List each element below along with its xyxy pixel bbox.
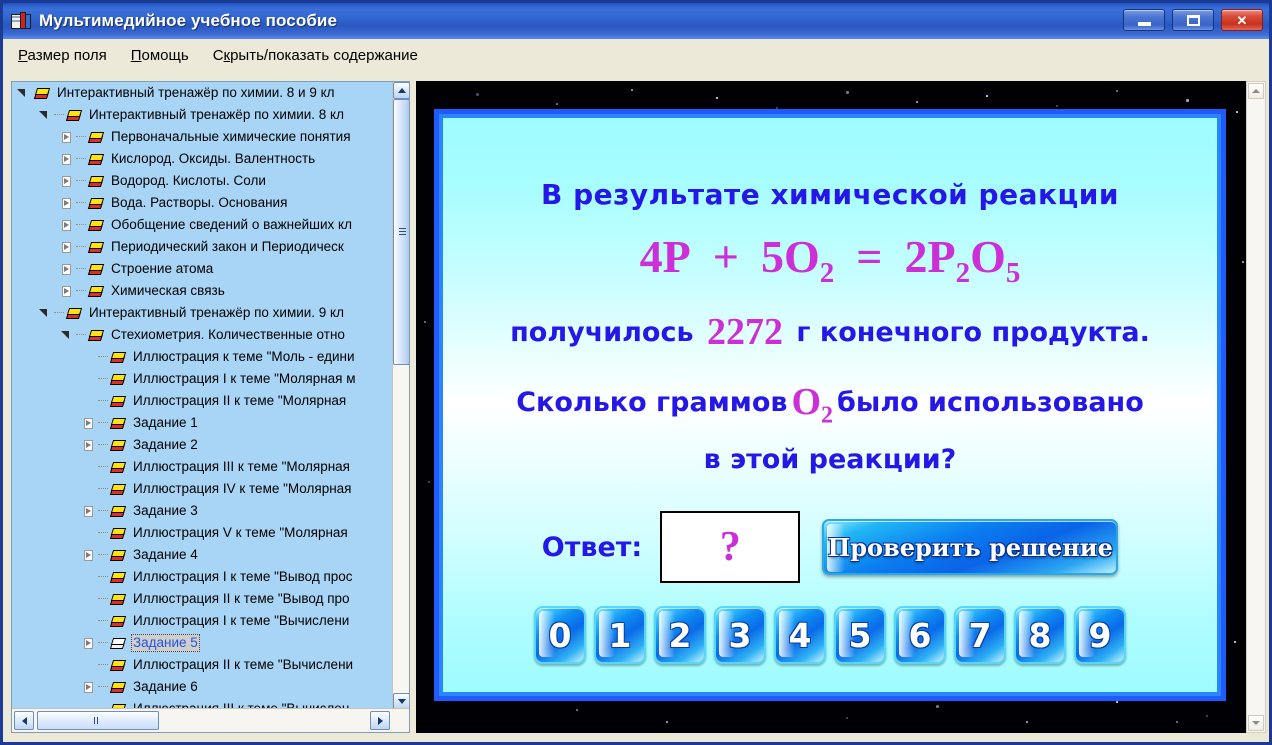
tree-connector bbox=[98, 554, 108, 556]
tree-connector bbox=[98, 444, 108, 446]
tree-scroll-thumb[interactable] bbox=[393, 99, 410, 365]
arrow-down-icon bbox=[398, 699, 406, 704]
book-icon bbox=[110, 395, 126, 408]
expander-none bbox=[82, 527, 95, 540]
book-icon bbox=[110, 351, 126, 364]
minimize-icon bbox=[1138, 22, 1151, 26]
check-solution-label: Проверить решение bbox=[828, 533, 1113, 562]
eq-term-2: 5O bbox=[761, 231, 820, 282]
expander-none bbox=[82, 395, 95, 408]
star-dot bbox=[916, 101, 918, 103]
expander-collapsed-icon[interactable] bbox=[60, 263, 73, 276]
digit-button-5[interactable]: 5 bbox=[834, 606, 886, 664]
tree-item[interactable]: Задание 3 bbox=[12, 500, 394, 522]
arrow-left-icon bbox=[22, 717, 27, 725]
eq-term-3-sub1: 2 bbox=[956, 257, 971, 289]
tree-item-label: Иллюстрация к теме "Моль - едини bbox=[131, 348, 357, 366]
tree-item[interactable]: Водород. Кислоты. Соли bbox=[12, 170, 394, 192]
tree-item-label: Задание 1 bbox=[131, 414, 200, 432]
tree-item-label: Иллюстрация I к теме "Вывод прос bbox=[131, 568, 355, 586]
tree-item[interactable]: Иллюстрация II к теме "Вывод про bbox=[12, 588, 394, 610]
star-dot bbox=[1186, 99, 1189, 102]
line3-before: Сколько граммов bbox=[516, 387, 787, 418]
menu-accel-0: Р bbox=[18, 47, 28, 64]
eq-operator-2: = bbox=[856, 231, 882, 282]
eq-operator-1: + bbox=[713, 231, 739, 282]
book-icon bbox=[88, 263, 104, 276]
menu-accel-1: П bbox=[131, 47, 142, 64]
tree-item[interactable]: Задание 6 bbox=[12, 676, 394, 698]
star-dot bbox=[666, 721, 668, 723]
book-icon bbox=[88, 153, 104, 166]
tree-item-label: Задание 4 bbox=[131, 546, 200, 564]
tree-connector bbox=[98, 466, 108, 468]
expander-collapsed-icon[interactable] bbox=[82, 439, 95, 452]
digit-label: 1 bbox=[609, 616, 632, 655]
tree-item[interactable]: Иллюстрация IV к теме "Молярная bbox=[12, 478, 394, 500]
book-icon bbox=[110, 615, 126, 628]
tree-connector bbox=[76, 268, 86, 270]
book-icon bbox=[110, 461, 126, 474]
maximize-icon bbox=[1187, 15, 1200, 26]
menu-item-field-size[interactable]: Размер поля bbox=[9, 44, 116, 67]
expander-none bbox=[82, 483, 95, 496]
digit-button-1[interactable]: 1 bbox=[594, 606, 646, 664]
tree-item[interactable]: Вода. Растворы. Основания bbox=[12, 192, 394, 214]
tree-item-label: Первоначальные химические понятия bbox=[109, 128, 353, 146]
tree-item[interactable]: Задание 4 bbox=[12, 544, 394, 566]
tree-connector bbox=[98, 510, 108, 512]
book-icon bbox=[110, 593, 126, 606]
oxygen-subscript: 2 bbox=[821, 403, 833, 429]
expander-none bbox=[82, 593, 95, 606]
slide-frame: В результате химической реакции 4P+5O2=2… bbox=[434, 109, 1226, 701]
digit-button-4[interactable]: 4 bbox=[774, 606, 826, 664]
page-vertical-scrollbar[interactable] bbox=[1246, 81, 1266, 733]
close-icon: ✕ bbox=[1237, 14, 1248, 27]
eq-term-3a: 2P bbox=[904, 231, 955, 282]
expander-expanded-icon[interactable] bbox=[38, 109, 51, 122]
tree-item[interactable]: Строение атома bbox=[12, 258, 394, 280]
digit-label: 4 bbox=[789, 616, 812, 655]
tree-item-label: Интерактивный тренажёр по химии. 8 кл bbox=[87, 106, 346, 124]
expander-expanded-icon[interactable] bbox=[60, 329, 73, 342]
menu-bar: Размер поля Помощь Скрыть/показать содер… bbox=[3, 39, 1269, 72]
tree-item-label: Обобщение сведений о важнейших кл bbox=[109, 216, 354, 234]
star-dot bbox=[846, 717, 848, 719]
tree-connector bbox=[98, 620, 108, 622]
eq-term-1: 4P bbox=[640, 231, 691, 282]
tree-item-label: Иллюстрация V к теме "Молярная bbox=[131, 524, 350, 542]
tree-scroll-right-button[interactable] bbox=[370, 711, 390, 730]
tree-item[interactable]: Химическая связь bbox=[12, 280, 394, 302]
tree-connector bbox=[76, 158, 86, 160]
tree-item-label: Задание 2 bbox=[131, 436, 200, 454]
book-icon bbox=[88, 219, 104, 232]
digit-label: 2 bbox=[669, 616, 692, 655]
book-icon bbox=[88, 329, 104, 342]
tree-item-label: Стехиометрия. Количественные отно bbox=[109, 326, 347, 344]
tree-item[interactable]: Иллюстрация III к теме "Молярная bbox=[12, 456, 394, 478]
book-icon bbox=[110, 571, 126, 584]
tree-item[interactable]: Интерактивный тренажёр по химии. 8 кл bbox=[12, 104, 394, 126]
digit-button-9[interactable]: 9 bbox=[1074, 606, 1126, 664]
contents-tree-panel: Интерактивный тренажёр по химии. 8 и 9 к… bbox=[11, 81, 410, 733]
book-icon bbox=[110, 417, 126, 430]
tree-item-label: Водород. Кислоты. Соли bbox=[109, 172, 268, 190]
menu-pre-2: С bbox=[213, 47, 224, 64]
tree-hscroll-thumb[interactable] bbox=[37, 711, 159, 730]
star-dot bbox=[631, 89, 633, 91]
tree-connector bbox=[98, 664, 108, 666]
digit-button-0[interactable]: 0 bbox=[534, 606, 586, 664]
book-icon bbox=[88, 197, 104, 210]
tree-item[interactable]: Задание 2 bbox=[12, 434, 394, 456]
question-line-3: Сколько граммовO2было использовано bbox=[443, 380, 1217, 430]
menu-post-1: омощь bbox=[142, 47, 189, 64]
digit-label: 3 bbox=[729, 616, 752, 655]
scroll-grip-icon bbox=[399, 228, 406, 236]
eq-term-3b: O bbox=[970, 231, 1006, 282]
chemical-equation: 4P+5O2=2P2O5 bbox=[443, 230, 1217, 290]
arrow-up-icon bbox=[398, 88, 406, 93]
star-dot bbox=[428, 481, 430, 483]
question-line-2: получилось 2272 г конечного продукта. bbox=[443, 310, 1217, 354]
book-icon bbox=[110, 483, 126, 496]
mass-value: 2272 bbox=[703, 311, 787, 353]
menu-item-toggle-contents[interactable]: Скрыть/показать содержание bbox=[204, 44, 427, 67]
tree-item[interactable]: Иллюстрация II к теме "Молярная bbox=[12, 390, 394, 412]
expander-collapsed-icon[interactable] bbox=[82, 637, 95, 650]
tree-connector bbox=[98, 686, 108, 688]
tree-vertical-scrollbar[interactable] bbox=[392, 82, 409, 710]
star-dot bbox=[1242, 261, 1244, 263]
tree-connector bbox=[98, 422, 108, 424]
expander-collapsed-icon[interactable] bbox=[60, 219, 73, 232]
expander-collapsed-icon[interactable] bbox=[82, 417, 95, 430]
book-icon bbox=[110, 681, 126, 694]
tree-connector bbox=[76, 224, 86, 226]
expander-collapsed-icon[interactable] bbox=[82, 549, 95, 562]
tree-connector bbox=[76, 136, 86, 138]
window-title: Мультимедийное учебное пособие bbox=[39, 11, 337, 31]
tree-connector bbox=[76, 290, 86, 292]
minimize-button[interactable] bbox=[1123, 9, 1165, 31]
tree-connector bbox=[76, 180, 86, 182]
tree-item-label: Иллюстрация II к теме "Вывод про bbox=[131, 590, 352, 608]
star-dot bbox=[1206, 715, 1208, 717]
tree-connector bbox=[98, 400, 108, 402]
star-dot bbox=[1176, 721, 1178, 723]
tree-item[interactable]: Задание 1 bbox=[12, 412, 394, 434]
tree-item-label: Химическая связь bbox=[109, 282, 227, 300]
digit-button-6[interactable]: 6 bbox=[894, 606, 946, 664]
line2-before: получилось bbox=[510, 317, 693, 348]
close-button[interactable]: ✕ bbox=[1221, 9, 1263, 31]
tree-connector bbox=[54, 114, 64, 116]
answer-label: Ответ: bbox=[542, 532, 642, 563]
star-dot bbox=[576, 709, 578, 711]
tree-connector bbox=[98, 488, 108, 490]
digit-label: 7 bbox=[969, 616, 992, 655]
star-dot bbox=[1234, 641, 1236, 643]
digit-button-2[interactable]: 2 bbox=[654, 606, 706, 664]
digit-label: 5 bbox=[849, 616, 872, 655]
answer-row: Ответ: ? Проверить решение bbox=[443, 510, 1217, 584]
tree-item[interactable]: Интерактивный тренажёр по химии. 9 кл bbox=[12, 302, 394, 324]
star-dot bbox=[1236, 111, 1238, 113]
expander-collapsed-icon[interactable] bbox=[60, 153, 73, 166]
maximize-button[interactable] bbox=[1172, 9, 1214, 31]
question-line-4: в этой реакции? bbox=[443, 444, 1217, 475]
book-icon bbox=[88, 175, 104, 188]
tree-item[interactable]: Кислород. Оксиды. Валентность bbox=[12, 148, 394, 170]
expander-collapsed-icon[interactable] bbox=[60, 241, 73, 254]
tree-item[interactable]: Иллюстрация V к теме "Молярная bbox=[12, 522, 394, 544]
tree-connector bbox=[98, 598, 108, 600]
tree-connector bbox=[76, 202, 86, 204]
tree-connector bbox=[98, 642, 108, 644]
arrow-right-icon bbox=[378, 717, 383, 725]
arrow-down-icon bbox=[1252, 721, 1260, 725]
tree-connector bbox=[76, 246, 86, 248]
menu-item-help[interactable]: Помощь bbox=[122, 44, 198, 67]
check-solution-button[interactable]: Проверить решение bbox=[822, 519, 1118, 575]
tree-horizontal-scrollbar[interactable] bbox=[12, 708, 410, 732]
expander-expanded-icon[interactable] bbox=[38, 307, 51, 320]
tree-connector bbox=[98, 576, 108, 578]
star-dot bbox=[936, 705, 939, 708]
expander-expanded-icon[interactable] bbox=[16, 87, 29, 100]
digit-label: 9 bbox=[1089, 616, 1112, 655]
tree-item-label: Иллюстрация II к теме "Вычислени bbox=[131, 656, 355, 674]
slide-surface: В результате химической реакции 4P+5O2=2… bbox=[443, 118, 1217, 692]
tree-connector bbox=[76, 334, 86, 336]
expander-collapsed-icon[interactable] bbox=[60, 285, 73, 298]
tree-item-label: Вода. Растворы. Основания bbox=[109, 194, 289, 212]
star-dot bbox=[1056, 105, 1058, 107]
tree-connector bbox=[98, 378, 108, 380]
expander-collapsed-icon[interactable] bbox=[82, 681, 95, 694]
menu-post-0: азмер поля bbox=[28, 47, 107, 64]
tree-connector bbox=[54, 312, 64, 314]
digit-label: 8 bbox=[1029, 616, 1052, 655]
tree-item[interactable]: Стехиометрия. Количественные отно bbox=[12, 324, 394, 346]
scroll-grip-icon bbox=[94, 717, 102, 724]
tree-item[interactable]: Первоначальные химические понятия bbox=[12, 126, 394, 148]
tree-item[interactable]: Иллюстрация I к теме "Молярная м bbox=[12, 368, 394, 390]
contents-tree[interactable]: Интерактивный тренажёр по химии. 8 и 9 к… bbox=[12, 82, 394, 709]
book-icon bbox=[110, 527, 126, 540]
digit-label: 0 bbox=[549, 616, 572, 655]
digit-label: 6 bbox=[909, 616, 932, 655]
expander-none bbox=[82, 373, 95, 386]
menu-post-2: рыть/показать содержание bbox=[230, 47, 418, 64]
star-dot bbox=[1026, 721, 1028, 723]
expander-none bbox=[82, 615, 95, 628]
expander-none bbox=[82, 461, 95, 474]
tree-item[interactable]: Периодический закон и Периодическ bbox=[12, 236, 394, 258]
expander-collapsed-icon[interactable] bbox=[60, 175, 73, 188]
expander-collapsed-icon[interactable] bbox=[60, 131, 73, 144]
arrow-up-icon bbox=[1252, 89, 1260, 93]
digit-button-8[interactable]: 8 bbox=[1014, 606, 1066, 664]
question-line-1: В результате химической реакции bbox=[443, 178, 1217, 211]
tree-item-label: Иллюстрация I к теме "Молярная м bbox=[131, 370, 358, 388]
book-icon bbox=[88, 131, 104, 144]
open-book-icon bbox=[110, 637, 126, 650]
book-icon bbox=[110, 659, 126, 672]
expander-collapsed-icon[interactable] bbox=[60, 197, 73, 210]
application-window: Мультимедийное учебное пособие ✕ Размер … bbox=[0, 0, 1272, 745]
star-dot bbox=[986, 95, 988, 97]
tree-item[interactable]: Задание 5 bbox=[12, 632, 394, 654]
digit-button-3[interactable]: 3 bbox=[714, 606, 766, 664]
oxygen-symbol: O bbox=[791, 381, 821, 423]
app-book-icon bbox=[10, 10, 32, 32]
page-scroll-down-button[interactable] bbox=[1248, 715, 1264, 731]
window-controls: ✕ bbox=[1123, 9, 1263, 31]
book-icon bbox=[110, 373, 126, 386]
book-icon bbox=[66, 109, 82, 122]
star-dot bbox=[846, 91, 849, 94]
tree-item[interactable]: Обобщение сведений о важнейших кл bbox=[12, 214, 394, 236]
star-dot bbox=[1116, 90, 1118, 92]
tree-connector bbox=[98, 532, 108, 534]
tree-item[interactable]: Иллюстрация к теме "Моль - едини bbox=[12, 346, 394, 368]
tree-item[interactable]: Иллюстрация II к теме "Вычислени bbox=[12, 654, 394, 676]
book-icon bbox=[66, 307, 82, 320]
tree-item[interactable]: Иллюстрация I к теме "Вычислени bbox=[12, 610, 394, 632]
tree-scroll-up-button[interactable] bbox=[393, 82, 410, 99]
eq-term-3-sub2: 5 bbox=[1006, 257, 1021, 289]
tree-item-label: Иллюстрация IV к теме "Молярная bbox=[131, 480, 353, 498]
oxygen-formula: O2 bbox=[787, 381, 837, 423]
line2-after: г конечного продукта. bbox=[796, 317, 1150, 348]
tree-item-label: Задание 6 bbox=[131, 678, 200, 696]
tree-item-label: Иллюстрация II к теме "Молярная bbox=[131, 392, 348, 410]
book-icon bbox=[110, 549, 126, 562]
tree-scroll-left-button[interactable] bbox=[14, 711, 34, 730]
tree-item-label: Периодический закон и Периодическ bbox=[109, 238, 346, 256]
digit-keypad[interactable]: 0123456789 bbox=[443, 604, 1217, 666]
expander-collapsed-icon[interactable] bbox=[82, 505, 95, 518]
eq-term-2-sub: 2 bbox=[820, 257, 835, 289]
tree-item-label: Строение атома bbox=[109, 260, 215, 278]
star-dot bbox=[476, 93, 479, 96]
slide-stage: В результате химической реакции 4P+5O2=2… bbox=[416, 81, 1261, 733]
star-dot bbox=[424, 321, 426, 323]
title-bar: Мультимедийное учебное пособие ✕ bbox=[3, 3, 1269, 39]
star-dot bbox=[716, 97, 718, 99]
answer-input-box[interactable]: ? bbox=[660, 511, 800, 583]
book-icon bbox=[110, 505, 126, 518]
tree-item[interactable]: Интерактивный тренажёр по химии. 8 и 9 к… bbox=[12, 82, 394, 104]
tree-item-label: Иллюстрация I к теме "Вычислени bbox=[131, 612, 351, 630]
page-scroll-up-button[interactable] bbox=[1248, 83, 1264, 99]
tree-connector bbox=[98, 356, 108, 358]
expander-none bbox=[82, 571, 95, 584]
tree-item-label: Задание 3 bbox=[131, 502, 200, 520]
tree-item-label: Интерактивный тренажёр по химии. 8 и 9 к… bbox=[55, 84, 337, 102]
tree-item[interactable]: Иллюстрация I к теме "Вывод прос bbox=[12, 566, 394, 588]
expander-none bbox=[82, 351, 95, 364]
expander-none bbox=[82, 659, 95, 672]
tree-item-label: Интерактивный тренажёр по химии. 9 кл bbox=[87, 304, 346, 322]
star-dot bbox=[556, 103, 558, 105]
digit-button-7[interactable]: 7 bbox=[954, 606, 1006, 664]
tree-item-label: Иллюстрация III к теме "Молярная bbox=[131, 458, 352, 476]
book-icon bbox=[88, 285, 104, 298]
book-icon bbox=[34, 87, 50, 100]
tree-item-label: Задание 5 bbox=[131, 634, 200, 652]
tree-item-label: Кислород. Оксиды. Валентность bbox=[109, 150, 317, 168]
tree-scroll-track[interactable] bbox=[393, 99, 410, 693]
book-icon bbox=[88, 241, 104, 254]
star-dot bbox=[1116, 701, 1118, 703]
line3-after: было использовано bbox=[837, 387, 1144, 418]
book-icon bbox=[110, 439, 126, 452]
